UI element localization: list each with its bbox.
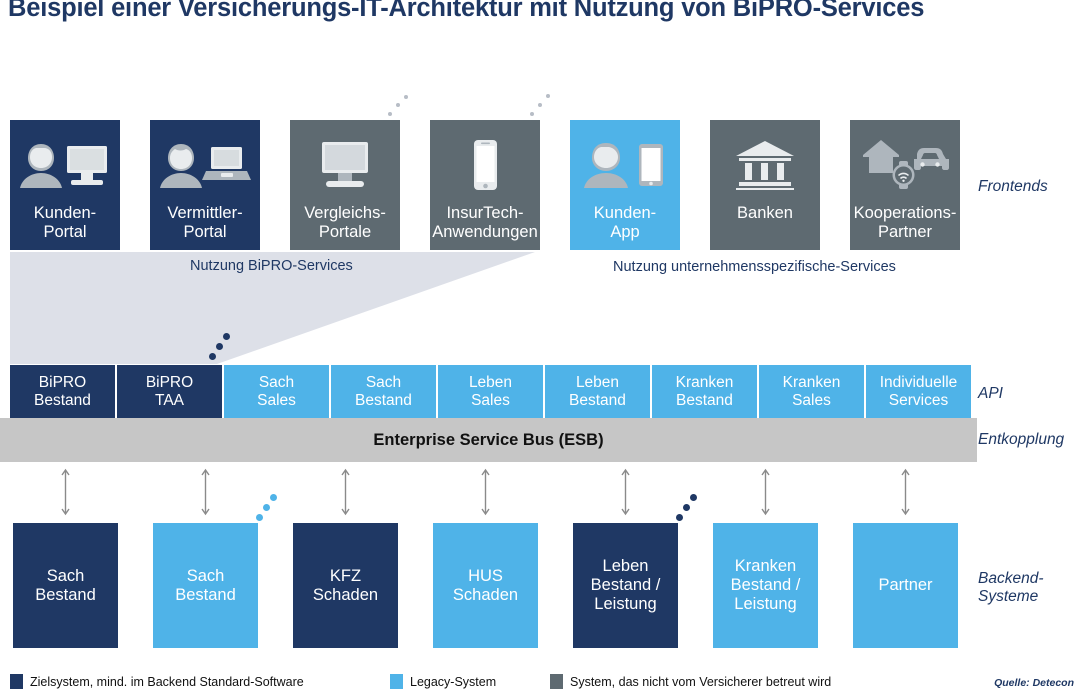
esb-backend-arrow [900,467,911,517]
backend-label: Sach Bestand [35,567,96,605]
backend-label: Leben Bestand / Leistung [591,557,661,613]
layer-caption-backend-systeme: Backend- Systeme [978,570,1043,606]
backend-label: Kranken Bestand / Leistung [731,557,801,613]
usage-label-company: Nutzung unternehmensspezifische-Services [613,259,896,275]
api-label: Leben Sales [469,374,512,409]
backend-kranken-bestand-leistung[interactable]: Kranken Bestand / Leistung [713,523,818,648]
legend-swatch-navy [10,674,23,689]
legend-label: Legacy-System [410,675,496,689]
api-sach-sales[interactable]: Sach Sales [224,365,329,418]
frontend-label: Banken [737,204,793,223]
decor-dot [256,514,263,521]
legend-label: System, das nicht vom Versicherer betreu… [570,675,831,689]
frontend-label: Kunden- App [594,204,656,242]
api-bipro-bestand[interactable]: BiPRO Bestand [10,365,115,418]
api-leben-bestand[interactable]: Leben Bestand [545,365,650,418]
frontend-label: Vermittler- Portal [167,204,242,242]
api-label: Leben Bestand [569,374,626,409]
decor-dot [676,514,683,521]
esb-backend-arrow [200,467,211,517]
legend-label: Zielsystem, mind. im Backend Standard-So… [30,675,304,689]
esb-backend-arrow [480,467,491,517]
api-kranken-sales[interactable]: Kranken Sales [759,365,864,418]
backend-partner[interactable]: Partner [853,523,958,648]
bank-building-icon [731,136,799,198]
desktop-monitor-icon [310,136,380,198]
decor-dot [690,494,697,501]
backend-hus-schaden[interactable]: HUS Schaden [433,523,538,648]
legend-swatch-gray [550,674,563,689]
frontend-banken[interactable]: Banken [710,120,820,250]
decor-dot [538,103,542,107]
legend-item-zielsystem: Zielsystem, mind. im Backend Standard-So… [10,674,304,689]
api-label: BiPRO Bestand [34,374,91,409]
decor-dot [223,333,230,340]
frontend-kooperations-partner[interactable]: Kooperations- Partner [850,120,960,250]
frontend-label: Kooperations- Partner [854,204,957,242]
enterprise-service-bus[interactable]: Enterprise Service Bus (ESB) [0,418,977,462]
layer-caption-frontends: Frontends [978,178,1048,196]
backend-label: KFZ Schaden [313,567,378,605]
legend-swatch-lightblue [390,674,403,689]
api-sach-bestand[interactable]: Sach Bestand [331,365,436,418]
backend-sach-bestand-legacy[interactable]: Sach Bestand [153,523,258,648]
api-kranken-bestand[interactable]: Kranken Bestand [652,365,757,418]
api-individuelle-services[interactable]: Individuelle Services [866,365,971,418]
esb-backend-arrow [620,467,631,517]
decor-dot [404,95,408,99]
api-label: Kranken Bestand [676,374,734,409]
frontend-kunden-portal[interactable]: Kunden- Portal [10,120,120,250]
api-label: BiPRO TAA [146,374,193,409]
backend-label: Sach Bestand [175,567,236,605]
frontend-label: Kunden- Portal [34,204,96,242]
backend-kfz-schaden[interactable]: KFZ Schaden [293,523,398,648]
frontend-insurtech-anwendungen[interactable]: InsurTech- Anwendungen [430,120,540,250]
frontend-label: InsurTech- Anwendungen [432,204,538,242]
api-bipro-taa[interactable]: BiPRO TAA [117,365,222,418]
decor-dot [270,494,277,501]
backend-label: HUS Schaden [453,567,518,605]
api-label: Individuelle Services [880,374,958,409]
person-female-desktop-icon [19,136,111,198]
usage-label-bipro: Nutzung BiPRO-Services [190,258,353,274]
smartphone-icon [463,136,507,198]
layer-caption-entkopplung: Entkopplung [978,431,1064,449]
esb-label: Enterprise Service Bus (ESB) [373,431,603,450]
decor-dot [683,504,690,511]
esb-backend-arrow [760,467,771,517]
frontend-vermittler-portal[interactable]: Vermittler- Portal [150,120,260,250]
decor-dot [396,103,400,107]
frontend-kunden-app[interactable]: Kunden- App [570,120,680,250]
esb-backend-arrow [340,467,351,517]
decor-dot [216,343,223,350]
api-leben-sales[interactable]: Leben Sales [438,365,543,418]
person-female-phone-icon [582,136,668,198]
api-label: Sach Bestand [355,374,412,409]
legend-item-fremdsystem: System, das nicht vom Versicherer betreu… [550,674,831,689]
backend-label: Partner [878,576,932,595]
decor-dot [546,94,550,98]
person-male-laptop-icon [159,136,251,198]
backend-sach-bestand-target[interactable]: Sach Bestand [13,523,118,648]
source-credit: Quelle: Detecon [994,677,1074,689]
house-car-watch-icon [857,136,953,198]
api-label: Sach Sales [257,374,296,409]
frontend-label: Vergleichs- Portale [304,204,386,242]
api-label: Kranken Sales [783,374,841,409]
decor-dot [263,504,270,511]
decor-dot [209,353,216,360]
frontend-vergleichs-portale[interactable]: Vergleichs- Portale [290,120,400,250]
legend-item-legacy: Legacy-System [390,674,496,689]
backend-leben-bestand-leistung[interactable]: Leben Bestand / Leistung [573,523,678,648]
page-title: Beispiel einer Versicherungs-IT-Architek… [8,0,924,23]
esb-backend-arrow [60,467,71,517]
layer-caption-api: API [978,385,1003,403]
decor-dot [388,112,392,116]
decor-dot [530,112,534,116]
